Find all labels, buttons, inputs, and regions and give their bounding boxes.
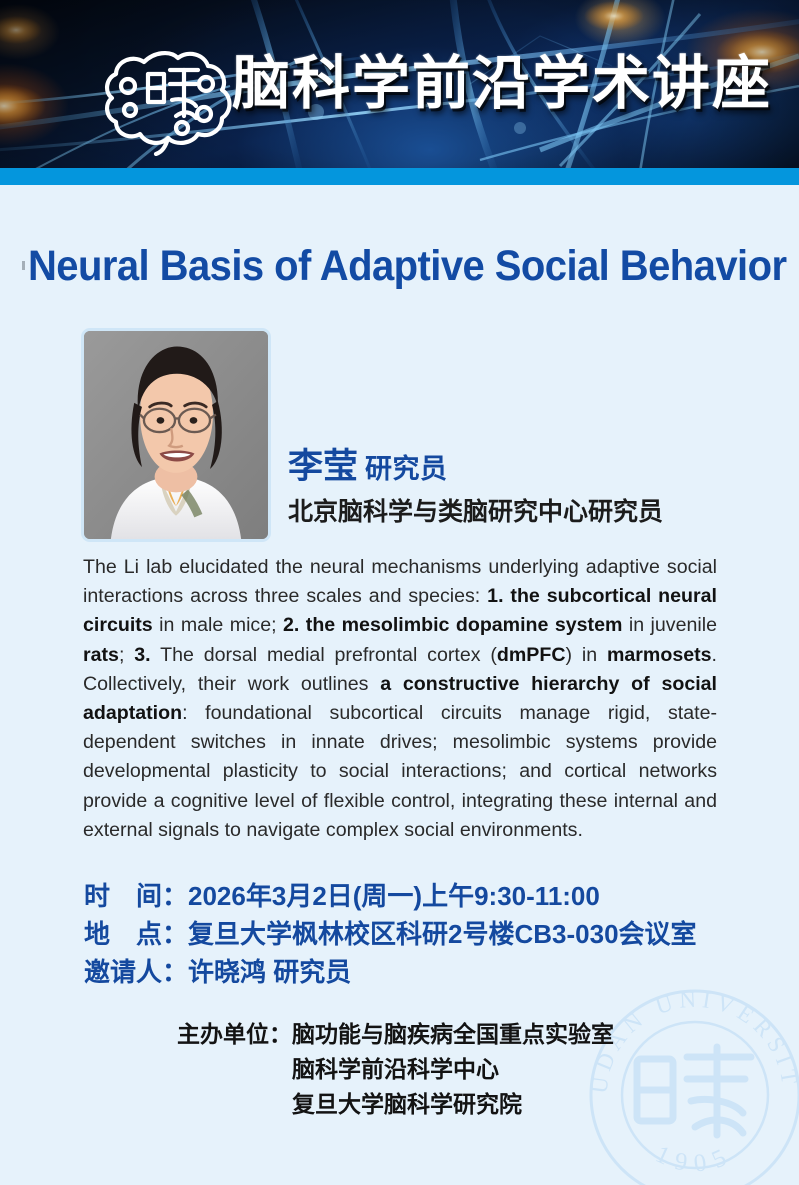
- abstract-emphasis: 3.: [134, 644, 150, 666]
- host-organizations: 主办单位：脑功能与脑疾病全国重点实验室脑科学前沿科学中心复旦大学脑科学研究院: [0, 1017, 799, 1122]
- abstract-run: The dorsal medial prefrontal cortex (: [151, 644, 497, 666]
- abstract-text: The Li lab elucidated the neural mechani…: [83, 553, 717, 845]
- event-detail-label: 地 点：: [84, 919, 188, 949]
- brain-cloud-logo: [100, 40, 236, 156]
- artifact-mark: [22, 261, 25, 270]
- seal-year-text: 1905: [651, 1141, 738, 1178]
- event-details: 时 间：2026年3月2日(周一)上午9:30-11:00地 点：复旦大学枫林校…: [84, 877, 697, 991]
- abstract-run: ;: [119, 644, 134, 666]
- abstract-run: ) in: [565, 644, 607, 666]
- abstract-emphasis: 2. the mesolimbic dopamine system: [283, 614, 622, 636]
- host-organizations-inner: 主办单位：脑功能与脑疾病全国重点实验室脑科学前沿科学中心复旦大学脑科学研究院: [177, 1017, 799, 1122]
- host-name: 脑功能与脑疾病全国重点实验室: [292, 1021, 614, 1047]
- event-detail-value: 许晓鸿 研究员: [188, 957, 351, 987]
- seminar-poster: 脑科学前沿学术讲座 FUDAN UNIVERSITY 1905 Neural B…: [0, 0, 799, 1185]
- speaker-affiliation: 北京脑科学与类脑研究中心研究员: [288, 492, 663, 528]
- event-detail-row: 邀请人：许晓鸿 研究员: [84, 953, 697, 991]
- event-detail-label: 邀请人：: [84, 957, 188, 987]
- speaker-name-text: 李莹: [288, 447, 358, 486]
- host-organization-line: 复旦大学脑科学研究院: [177, 1087, 799, 1122]
- speaker-photo: [81, 328, 271, 542]
- speaker-name: 李莹研究员: [288, 438, 448, 489]
- banner-title: 脑科学前沿学术讲座: [232, 48, 772, 120]
- speaker-role-text: 研究员: [365, 454, 448, 484]
- host-organization-line: 脑科学前沿科学中心: [177, 1052, 799, 1087]
- host-name: 复旦大学脑科学研究院: [292, 1091, 522, 1117]
- event-detail-row: 地 点：复旦大学枫林校区科研2号楼CB3-030会议室: [84, 915, 697, 953]
- host-name: 脑科学前沿科学中心: [292, 1056, 499, 1082]
- abstract-emphasis: dmPFC: [497, 644, 566, 666]
- host-organization-line: 主办单位：脑功能与脑疾病全国重点实验室: [177, 1017, 799, 1052]
- abstract-emphasis: marmosets: [607, 644, 712, 666]
- abstract-run: in male mice;: [153, 614, 283, 636]
- event-detail-label: 时 间：: [84, 881, 188, 911]
- header-banner: 脑科学前沿学术讲座: [0, 0, 799, 168]
- event-detail-row: 时 间：2026年3月2日(周一)上午9:30-11:00: [84, 877, 697, 915]
- event-detail-value: 复旦大学枫林校区科研2号楼CB3-030会议室: [188, 919, 697, 949]
- host-label: 主办单位：: [177, 1021, 292, 1047]
- talk-title: Neural Basis of Adaptive Social Behavior: [28, 242, 771, 291]
- abstract-emphasis: rats: [83, 644, 119, 666]
- header-divider-bar: [0, 168, 799, 185]
- abstract-run: in juvenile: [622, 614, 717, 636]
- event-detail-value: 2026年3月2日(周一)上午9:30-11:00: [188, 881, 600, 911]
